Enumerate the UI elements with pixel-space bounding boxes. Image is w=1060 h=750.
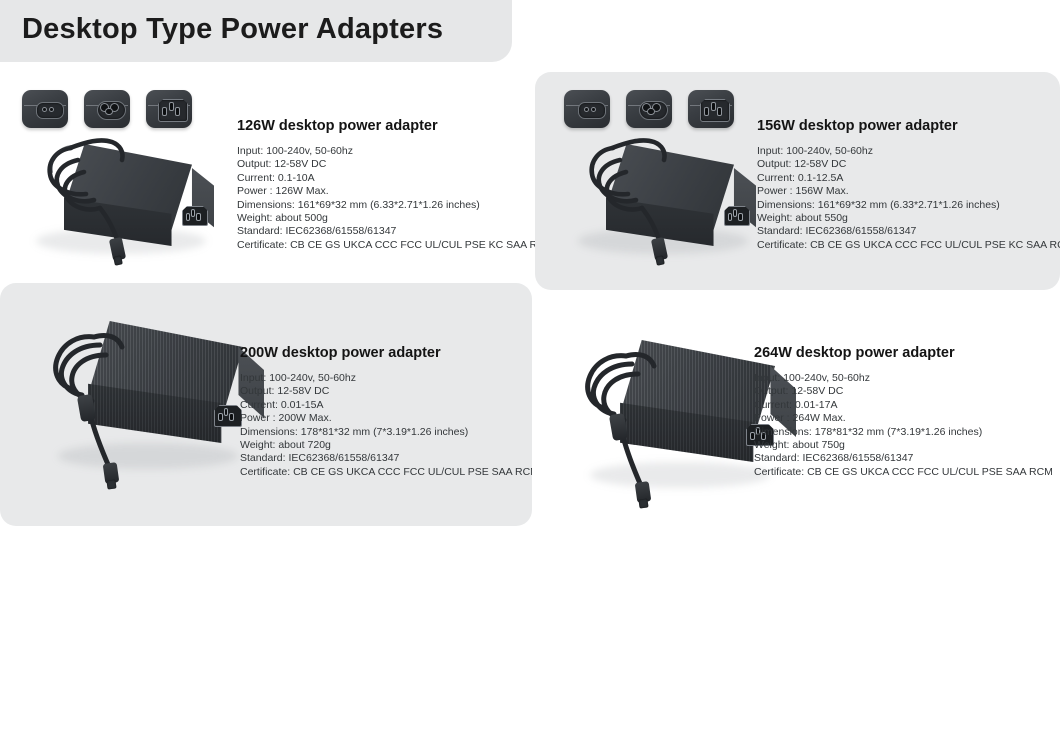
product-title-156w: 156W desktop power adapter	[757, 118, 958, 134]
spec-power: Power : 264W Max.	[754, 412, 1053, 425]
spec-input: Input: 100-240v, 50-60hz	[237, 145, 553, 158]
spec-weight: Weight: about 720g	[240, 439, 539, 452]
product-specs-200w: Input: 100-240v, 50-60hz Output: 12-58V …	[240, 372, 539, 479]
dc-plug-tip	[113, 255, 123, 265]
spec-dimensions: Dimensions: 161*69*32 mm (6.33*2.71*1.26…	[757, 199, 1060, 212]
product-card-264w: 264W desktop power adapter Input: 100-24…	[532, 300, 1060, 522]
product-card-126w: 126W desktop power adapter Input: 100-24…	[0, 66, 520, 278]
spec-output: Output: 12-58V DC	[240, 385, 539, 398]
spec-current: Current: 0.1-12.5A	[757, 172, 1060, 185]
product-title-200w: 200W desktop power adapter	[240, 345, 441, 361]
spec-power: Power : 200W Max.	[240, 412, 539, 425]
page-title: Desktop Type Power Adapters	[22, 13, 443, 46]
spec-input: Input: 100-240v, 50-60hz	[754, 372, 1053, 385]
spec-power: Power : 126W Max.	[237, 185, 553, 198]
spec-standard: Standard: IEC62368/61558/61347	[757, 225, 1060, 238]
dc-plug-tip	[638, 498, 648, 508]
product-specs-126w: Input: 100-240v, 50-60hz Output: 12-58V …	[237, 145, 553, 252]
product-specs-156w: Input: 100-240v, 50-60hz Output: 12-58V …	[757, 145, 1060, 252]
spec-certificate: Certificate: CB CE GS UKCA CCC FCC UL/CU…	[237, 239, 553, 252]
spec-certificate: Certificate: CB CE GS UKCA CCC FCC UL/CU…	[754, 466, 1053, 479]
product-specs-264w: Input: 100-240v, 50-60hz Output: 12-58V …	[754, 372, 1053, 479]
product-card-156w: 156W desktop power adapter Input: 100-24…	[535, 72, 1060, 290]
product-image-126w	[8, 80, 233, 270]
spec-input: Input: 100-240v, 50-60hz	[240, 372, 539, 385]
spec-standard: Standard: IEC62368/61558/61347	[240, 452, 539, 465]
product-title-264w: 264W desktop power adapter	[754, 345, 955, 361]
spec-dimensions: Dimensions: 178*81*32 mm (7*3.19*1.26 in…	[240, 426, 539, 439]
product-title-126w: 126W desktop power adapter	[237, 118, 438, 134]
spec-weight: Weight: about 750g	[754, 439, 1053, 452]
spec-dimensions: Dimensions: 161*69*32 mm (6.33*2.71*1.26…	[237, 199, 553, 212]
spec-output: Output: 12-58V DC	[757, 158, 1060, 171]
spec-certificate: Certificate: CB CE GS UKCA CCC FCC UL/CU…	[240, 466, 539, 479]
product-image-156w	[550, 80, 775, 270]
spec-standard: Standard: IEC62368/61558/61347	[754, 452, 1053, 465]
dc-plug-tip	[655, 255, 665, 265]
spec-standard: Standard: IEC62368/61558/61347	[237, 225, 553, 238]
dc-output-cable	[18, 303, 268, 493]
spec-output: Output: 12-58V DC	[754, 385, 1053, 398]
spec-output: Output: 12-58V DC	[237, 158, 553, 171]
spec-weight: Weight: about 500g	[237, 212, 553, 225]
product-image-200w	[18, 303, 268, 493]
spec-input: Input: 100-240v, 50-60hz	[757, 145, 1060, 158]
dc-plug-tip	[106, 479, 116, 489]
spec-current: Current: 0.01-17A	[754, 399, 1053, 412]
product-card-200w: 200W desktop power adapter Input: 100-24…	[0, 283, 532, 526]
spec-weight: Weight: about 550g	[757, 212, 1060, 225]
spec-power: Power : 156W Max.	[757, 185, 1060, 198]
spec-current: Current: 0.01-15A	[240, 399, 539, 412]
spec-current: Current: 0.1-10A	[237, 172, 553, 185]
spec-certificate: Certificate: CB CE GS UKCA CCC FCC UL/CU…	[757, 239, 1060, 252]
spec-dimensions: Dimensions: 178*81*32 mm (7*3.19*1.26 in…	[754, 426, 1053, 439]
